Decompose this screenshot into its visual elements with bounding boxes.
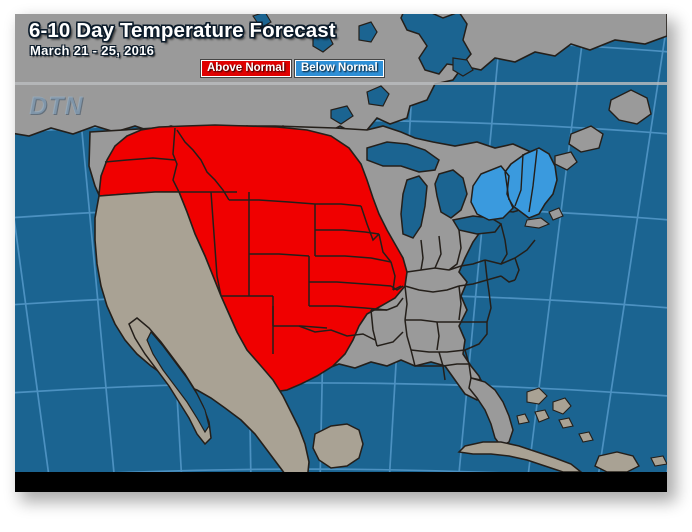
map-panel: 6-10 Day Temperature Forecast March 21 -… (15, 14, 667, 492)
header-divider (15, 82, 667, 85)
legend-item-above-normal[interactable]: Above Normal (201, 60, 291, 77)
screenshot-root: 6-10 Day Temperature Forecast March 21 -… (0, 0, 692, 532)
map-viewport[interactable]: 6-10 Day Temperature Forecast March 21 -… (15, 14, 667, 472)
map-legend: Above Normal Below Normal (201, 60, 384, 77)
legend-item-below-normal[interactable]: Below Normal (295, 60, 384, 77)
panel-bottom-bar (15, 472, 667, 492)
